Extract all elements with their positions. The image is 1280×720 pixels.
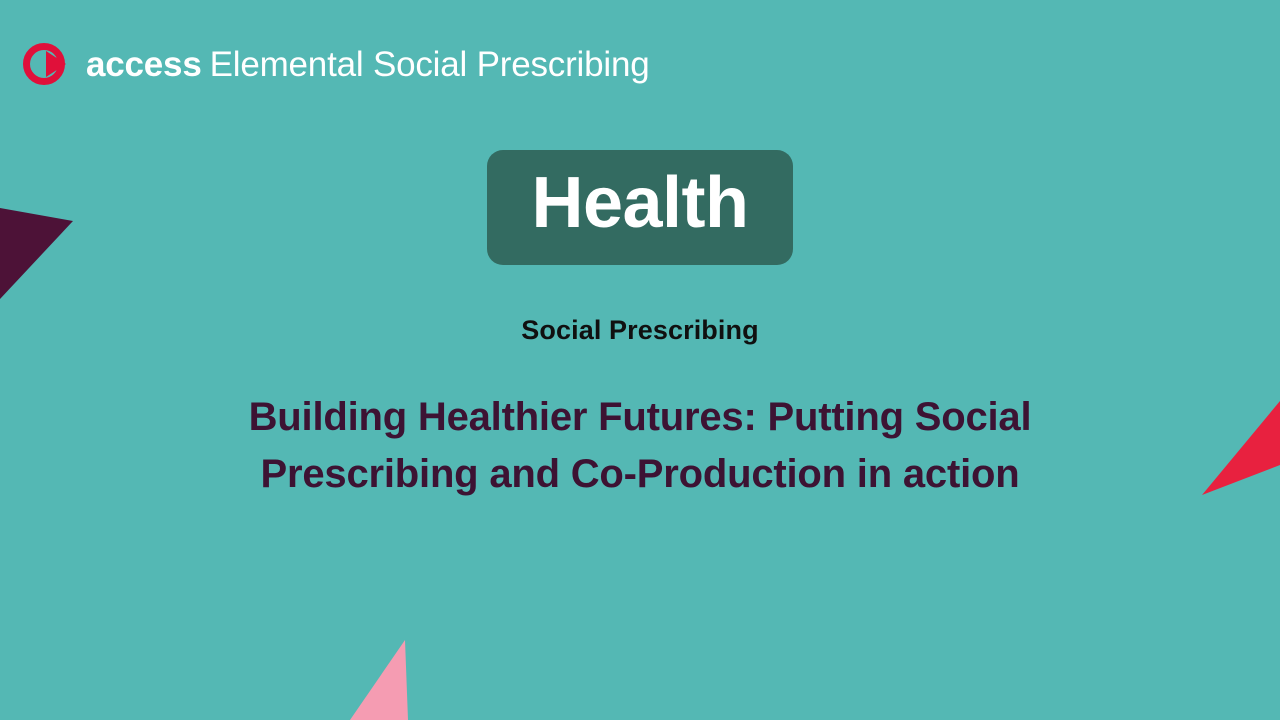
brand-product-name: Elemental Social Prescribing (210, 45, 650, 84)
bottom-triangle-icon (330, 640, 430, 720)
presentation-slide: accessElemental Social Prescribing Healt… (0, 0, 1280, 720)
brand-bar: accessElemental Social Prescribing (22, 36, 649, 92)
slide-title: Building Healthier Futures: Putting Soci… (180, 389, 1100, 503)
access-ring-pin-logo-icon (22, 38, 80, 90)
brand-name: access (86, 45, 202, 84)
slide-content: Health Social Prescribing Building Healt… (0, 150, 1280, 503)
brand-wordmark: accessElemental Social Prescribing (86, 47, 649, 82)
slide-subtitle: Social Prescribing (521, 315, 758, 346)
category-badge: Health (487, 150, 792, 265)
category-badge-label: Health (531, 163, 748, 243)
